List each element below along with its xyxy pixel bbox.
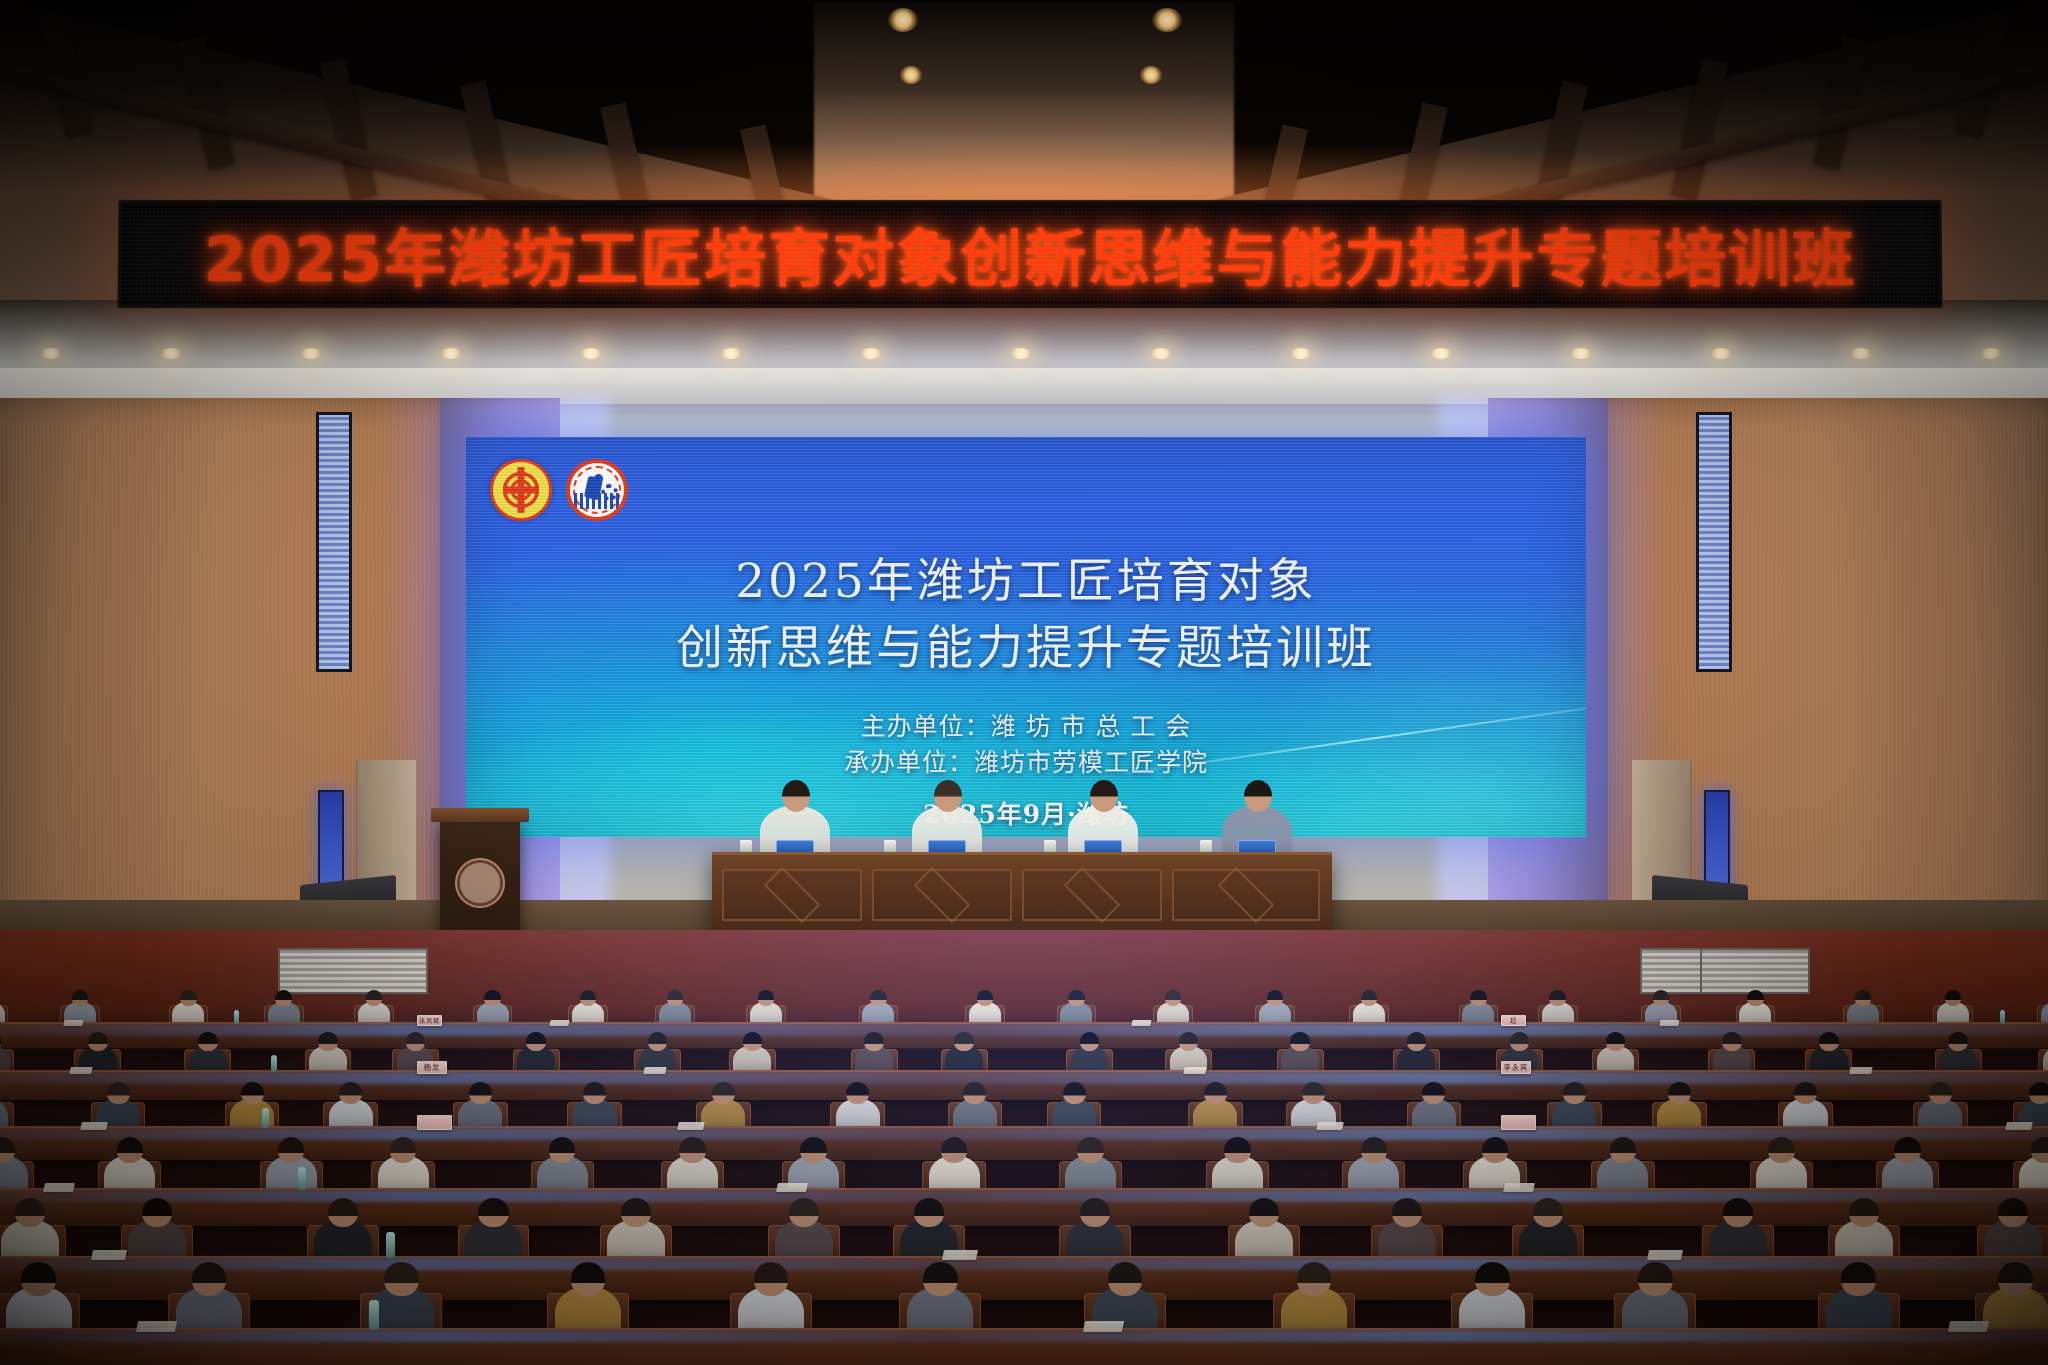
attendee-head	[712, 1082, 735, 1104]
attendee-head	[954, 1032, 974, 1051]
attendee-head	[15, 1198, 45, 1227]
attendee-head	[1179, 1032, 1199, 1051]
attendee-head	[1610, 1137, 1637, 1163]
recessed-downlight	[1150, 348, 1172, 359]
attendee-head	[1998, 1262, 2032, 1296]
desk-paper	[1660, 1020, 1680, 1026]
water-bottle	[262, 1108, 269, 1128]
attendee-head	[621, 1198, 651, 1227]
attendee-head	[1948, 1032, 1968, 1051]
desk-name-card	[1501, 1115, 1536, 1130]
attendee-head	[328, 1198, 358, 1227]
attendee-head	[406, 1032, 426, 1051]
desk-paper	[1948, 1321, 1989, 1332]
desk-reflection	[0, 1258, 2048, 1270]
attendee-head	[583, 1082, 606, 1104]
attendee-head	[180, 990, 197, 1006]
desk-row	[0, 1256, 2048, 1300]
conference-hall-photo: 2025年潍坊工匠培育对象创新思维与能力提升专题培训班 2025年潍坊工匠培育对…	[0, 0, 2048, 1365]
desk-paper	[1849, 1067, 1872, 1074]
attendee-head	[1849, 1198, 1879, 1227]
attendee-head	[21, 1262, 55, 1296]
water-bottle	[271, 1055, 277, 1072]
attendee-head	[667, 990, 684, 1006]
desk-paper	[1131, 1020, 1151, 1026]
attendee-head	[390, 1137, 417, 1163]
attendee-head	[1668, 1082, 1691, 1104]
desk-paper	[677, 1122, 704, 1130]
attendee-head	[1482, 1137, 1509, 1163]
attendee-head	[1794, 1082, 1817, 1104]
attendee-head	[192, 1262, 226, 1296]
desk-name-card: 李永宾	[1501, 1061, 1531, 1074]
attendee-head	[2031, 1137, 2048, 1163]
recessed-downlight	[160, 348, 182, 359]
attendee-head	[1945, 990, 1962, 1006]
attendee-head	[1080, 1032, 1100, 1051]
attendee-head	[318, 1032, 338, 1051]
attendee-head	[1510, 1032, 1530, 1051]
recessed-downlight	[580, 348, 602, 359]
wall-vent-far-right	[1700, 948, 1810, 994]
desk-reflection	[0, 1024, 2048, 1036]
attendee-head	[1267, 990, 1284, 1006]
podium-top	[431, 808, 529, 822]
desk-paper	[43, 1183, 75, 1192]
attendee-head	[1361, 990, 1378, 1006]
attendee-head	[1249, 1198, 1279, 1227]
attendee-head	[1819, 1032, 1839, 1051]
recessed-downlight	[440, 348, 462, 359]
desk-paper	[1183, 1067, 1206, 1074]
desk-row	[0, 1328, 2048, 1365]
ceiling-downlight	[900, 66, 922, 84]
desk-name-card: 杨龙	[417, 1061, 447, 1074]
panelist-head	[934, 780, 962, 812]
ceiling-downlight	[1140, 66, 1162, 84]
attendee-head	[1224, 1137, 1251, 1163]
attendee-head	[278, 1137, 305, 1163]
water-bottle	[234, 1010, 239, 1024]
banner-pixel-grid	[120, 203, 1939, 305]
panelist-head	[1090, 780, 1118, 812]
desk-paper	[1082, 1321, 1123, 1332]
attendee-head	[1392, 1198, 1422, 1227]
desk-paper	[80, 1122, 107, 1130]
attendee-head	[679, 1137, 706, 1163]
attendee-head	[758, 990, 775, 1006]
desk-paper	[1316, 1122, 1343, 1130]
desk-reflection	[0, 1128, 2048, 1140]
attendee-head	[1297, 1262, 1331, 1296]
ceiling-downlight	[1152, 8, 1182, 32]
attendee-head	[384, 1262, 418, 1296]
attendee-head	[1841, 1262, 1875, 1296]
attendee-head	[275, 990, 292, 1006]
desk-reflection	[0, 1072, 2048, 1084]
attendee-head	[484, 990, 501, 1006]
attendee-head	[1080, 1198, 1110, 1227]
water-bottle	[298, 1167, 306, 1190]
attendee-head	[864, 1032, 884, 1051]
attendee-head	[366, 990, 383, 1006]
attendee-head	[580, 990, 597, 1006]
attendee-head	[914, 1198, 944, 1227]
desk-name-card	[417, 1115, 452, 1130]
attendee-head	[1108, 1262, 1142, 1296]
desk-reflection	[0, 1330, 2048, 1342]
attendee-head	[1475, 1262, 1509, 1296]
attendee-head	[1204, 1082, 1227, 1104]
attendee-head	[2029, 1082, 2048, 1104]
recessed-downlight	[1980, 348, 2002, 359]
attendee-head	[107, 1082, 130, 1104]
attendee-head	[923, 1262, 957, 1296]
attendee-head	[1894, 1137, 1921, 1163]
desk-paper	[643, 1067, 666, 1074]
desk-name-card: 张凤斌	[417, 1015, 442, 1026]
attendee-head	[963, 1082, 986, 1104]
side-window-left	[316, 412, 352, 672]
water-bottle	[369, 1300, 379, 1330]
attendee-head	[1549, 990, 1566, 1006]
attendee-head	[1768, 1137, 1795, 1163]
ceiling-downlight	[888, 8, 918, 32]
attendee-head	[478, 1198, 508, 1227]
attendee-head	[549, 1137, 576, 1163]
attendee-head	[339, 1082, 362, 1104]
attendee-head	[241, 1082, 264, 1104]
recessed-downlight	[1710, 348, 1732, 359]
attendee-head	[648, 1032, 668, 1051]
desk-paper	[550, 1020, 570, 1026]
auditorium-seating: 张凤斌超杨龙李永宾	[0, 930, 2048, 1365]
attendee-head	[1063, 1082, 1086, 1104]
recessed-downlight	[300, 348, 322, 359]
attendee-head	[117, 1137, 144, 1163]
recessed-downlight	[1290, 348, 1312, 359]
recessed-downlight	[1850, 348, 1872, 359]
desk-row	[0, 1126, 2048, 1160]
attendee-head	[1723, 1198, 1753, 1227]
recessed-downlight	[720, 348, 742, 359]
desk-row: 杨龙李永宾	[0, 1070, 2048, 1100]
attendee-head	[571, 1262, 605, 1296]
attendee-head	[1929, 1082, 1952, 1104]
water-bottle	[2000, 1010, 2005, 1024]
desk-paper	[136, 1321, 177, 1332]
attendee-head	[1855, 990, 1872, 1006]
attendee-head	[800, 1137, 827, 1163]
attendee-head	[1165, 990, 1182, 1006]
attendee-head	[870, 990, 887, 1006]
attendee-head	[1653, 990, 1670, 1006]
head-table	[712, 852, 1332, 932]
panelist-head	[782, 780, 810, 812]
attendee-head	[1533, 1198, 1563, 1227]
desk-paper	[70, 1067, 93, 1074]
desk-paper	[91, 1250, 127, 1260]
presentation-screen: 2025年潍坊工匠培育对象 创新思维与能力提升专题培训班 主办单位：潍 坊 市 …	[466, 437, 1586, 837]
podium-seal-icon	[455, 858, 505, 908]
attendee-head	[469, 1082, 492, 1104]
wall-vent-left	[278, 948, 428, 994]
desk-paper	[941, 1250, 977, 1260]
attendee-head	[754, 1262, 788, 1296]
attendee-head	[142, 1198, 172, 1227]
attendee-head	[526, 1032, 546, 1051]
screen-scanlines	[466, 437, 1586, 837]
water-bottle	[386, 1232, 395, 1258]
desk-paper	[64, 1020, 84, 1026]
recessed-downlight	[40, 348, 62, 359]
recessed-downlight	[1430, 348, 1452, 359]
recessed-downlight	[860, 348, 882, 359]
desk-paper	[776, 1183, 808, 1192]
attendee-head	[1290, 1032, 1310, 1051]
attendee-head	[789, 1198, 819, 1227]
banner-glow	[118, 142, 1942, 202]
attendee-head	[72, 990, 89, 1006]
attendee-head	[846, 1082, 869, 1104]
desk-paper	[1647, 1250, 1683, 1260]
attendee-head	[1407, 1032, 1427, 1051]
attendee-head	[1563, 1082, 1586, 1104]
attendee-head	[1606, 1032, 1626, 1051]
attendee-head	[1638, 1262, 1672, 1296]
attendee-head	[1470, 990, 1487, 1006]
side-window-right	[1696, 412, 1732, 672]
led-banner: 2025年潍坊工匠培育对象创新思维与能力提升专题培训班	[118, 200, 1942, 308]
banner-frame: 2025年潍坊工匠培育对象创新思维与能力提升专题培训班	[117, 200, 1942, 308]
attendee-head	[1722, 1032, 1742, 1051]
recessed-downlight	[1570, 348, 1592, 359]
desk-paper	[1503, 1183, 1535, 1192]
podium	[440, 818, 520, 948]
attendee-head	[1068, 990, 1085, 1006]
attendee-head	[88, 1032, 108, 1051]
attendee-head	[1302, 1082, 1325, 1104]
attendee-head	[941, 1137, 968, 1163]
attendee-head	[1077, 1137, 1104, 1163]
desk-name-card: 超	[1501, 1015, 1526, 1026]
panelist-head	[1244, 780, 1272, 812]
attendee-head	[1747, 990, 1764, 1006]
attendee-head	[977, 990, 994, 1006]
attendee-head	[198, 1032, 218, 1051]
recessed-downlight	[1010, 348, 1032, 359]
attendee-head	[743, 1032, 763, 1051]
attendee-head	[1998, 1198, 2028, 1227]
desk-paper	[2006, 1122, 2033, 1130]
attendee-head	[1361, 1137, 1388, 1163]
